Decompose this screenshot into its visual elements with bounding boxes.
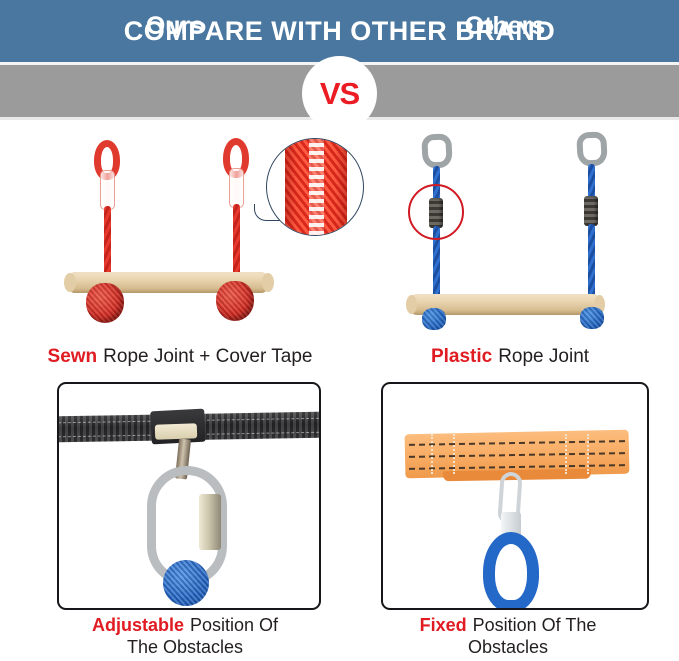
red-rope-knot-left bbox=[86, 283, 124, 323]
others-bottom-caption: FixedPosition Of The Obstacles bbox=[352, 614, 664, 660]
column-header-ours: Ours bbox=[90, 0, 260, 52]
red-rope-knot-right bbox=[216, 281, 254, 321]
metal-carabiner-right bbox=[576, 131, 608, 167]
orange-vertical-stitch-4 bbox=[587, 434, 589, 474]
column-header-others: Others bbox=[420, 0, 590, 52]
blue-rope-end-right-panel bbox=[483, 532, 539, 610]
others-bottom-caption-line1: FixedPosition Of The bbox=[352, 614, 664, 636]
others-bottom-caption-highlight: Fixed bbox=[420, 615, 467, 635]
wooden-bar-cap-right bbox=[262, 273, 274, 292]
callout-white-stitching bbox=[309, 138, 324, 236]
ours-bottom-caption-rest: Position Of bbox=[190, 615, 278, 635]
blue-rope-knot-right bbox=[580, 307, 604, 329]
ours-mid-caption-highlight: Sewn bbox=[48, 346, 98, 368]
slider-pad bbox=[155, 423, 197, 439]
others-mid-caption-text: Rope Joint bbox=[498, 346, 589, 368]
blue-rope-knot-left bbox=[422, 308, 446, 330]
orange-vertical-stitch-1 bbox=[431, 434, 433, 474]
cover-tape-right bbox=[229, 168, 244, 208]
ours-bottom-caption-line2: The Obstacles bbox=[30, 636, 340, 658]
metal-carabiner-left bbox=[421, 133, 453, 169]
wooden-bar-cap-left-others bbox=[406, 295, 417, 314]
orange-vertical-stitch-2 bbox=[453, 434, 455, 474]
others-mid-caption-highlight: Plastic bbox=[431, 346, 492, 368]
ours-mid-caption: Sewn Rope Joint + Cover Tape bbox=[10, 344, 350, 370]
orange-vertical-stitch-3 bbox=[565, 434, 567, 474]
others-bottom-caption-line2: Obstacles bbox=[352, 636, 664, 658]
others-product-illustration bbox=[350, 126, 670, 341]
wooden-bar-cap-left bbox=[64, 273, 76, 292]
carabiner-screw-sleeve bbox=[199, 494, 221, 550]
cover-tape-left bbox=[100, 170, 115, 210]
comparison-infographic: COMPARE WITH OTHER BRAND Ours Others VS bbox=[0, 0, 679, 661]
blue-rope-end-left-panel bbox=[163, 560, 209, 606]
plastic-joint-highlight-circle bbox=[408, 184, 464, 240]
ours-product-illustration bbox=[20, 126, 350, 341]
versus-label: VS bbox=[320, 76, 359, 112]
fixed-position-photo bbox=[381, 382, 649, 610]
adjustable-position-photo bbox=[57, 382, 321, 610]
ours-bottom-caption-highlight: Adjustable bbox=[92, 615, 184, 635]
others-mid-caption: Plastic Rope Joint bbox=[350, 344, 670, 370]
ours-bottom-caption-line1: AdjustablePosition Of bbox=[30, 614, 340, 636]
ours-mid-caption-text: Rope Joint + Cover Tape bbox=[103, 346, 312, 368]
blue-rope-lower-right bbox=[588, 224, 595, 298]
plastic-joint-right bbox=[584, 196, 598, 226]
ours-bottom-caption: AdjustablePosition Of The Obstacles bbox=[30, 614, 340, 660]
others-bottom-caption-rest: Position Of The bbox=[473, 615, 597, 635]
versus-badge: VS bbox=[302, 56, 377, 131]
